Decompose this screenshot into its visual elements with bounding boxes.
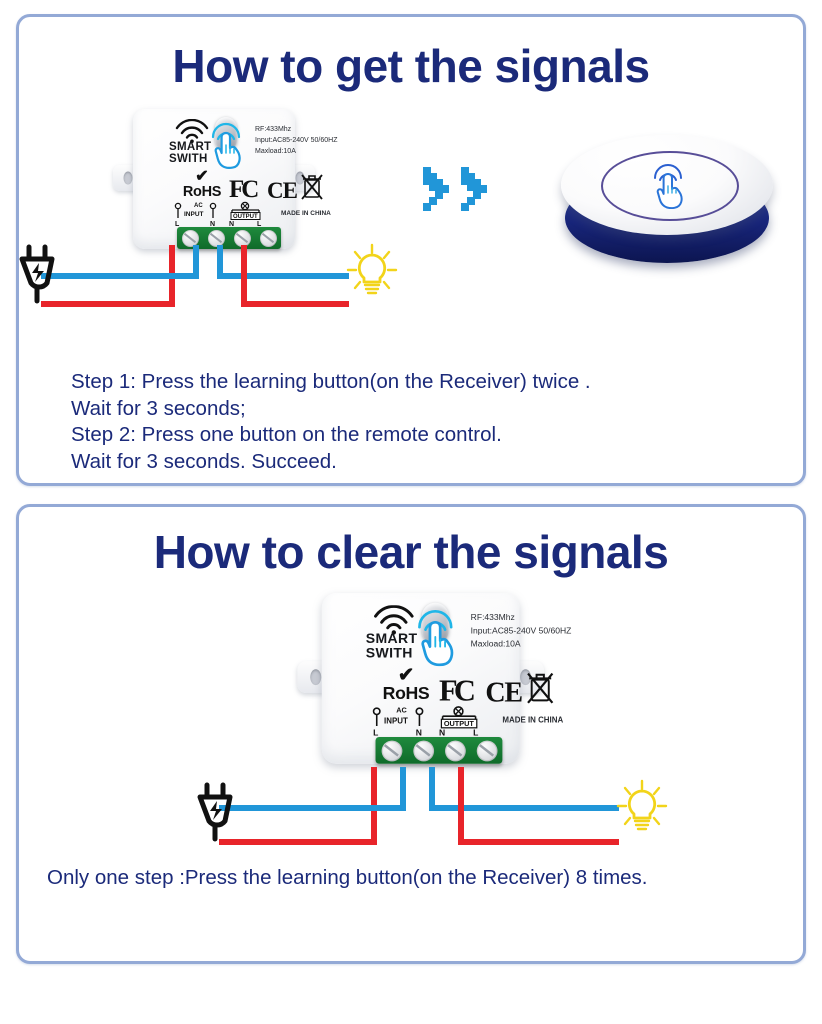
made-in-label: MADE IN CHINA — [502, 716, 563, 725]
svg-text:INPUT: INPUT — [184, 211, 204, 218]
svg-text:OUTPUT: OUTPUT — [233, 214, 258, 220]
light-bulb-icon — [345, 243, 399, 301]
step-line: Step 1: Press the learning button(on the… — [71, 369, 591, 396]
ce-mark: CE — [485, 678, 522, 706]
terminal-screw-1 — [381, 740, 402, 761]
panel-how-to-clear-signals: How to clear the signals SMART SWITH — [16, 504, 806, 964]
spec-load: Maxload:10A — [255, 147, 338, 158]
spec-load: Maxload:10A — [471, 639, 572, 652]
wifi-signal-icon — [175, 119, 209, 143]
remote-control — [559, 129, 775, 269]
rohs-mark: ✔ RoHS — [368, 669, 444, 704]
check-icon: ✔ — [368, 669, 444, 685]
receiver-module-clear: SMART SWITH ✔ RoHS FC CE — [295, 593, 546, 776]
terminal-legend: AC INPUT OUTPUT L N N L — [366, 705, 525, 737]
power-plug-icon — [11, 243, 67, 307]
wifi-signal-icon — [373, 605, 414, 634]
terminal-screw-3 — [234, 230, 251, 247]
terminal-screw-2 — [413, 740, 434, 761]
terminal-screw-4 — [260, 230, 277, 247]
made-in-label: MADE IN CHINA — [281, 210, 331, 217]
fcc-mark: FC — [439, 676, 472, 707]
wire-live-output-run — [241, 301, 349, 307]
touch-hand-icon[interactable] — [649, 163, 691, 209]
page-title-clear: How to clear the signals — [19, 507, 803, 575]
panel-how-to-get-signals: How to get the signals SMART S — [16, 14, 806, 486]
terminal-screw-2 — [208, 230, 225, 247]
check-icon: ✔ — [171, 171, 233, 184]
arrow-chevrons-icon — [419, 163, 501, 219]
brand-line-1: SMART — [366, 633, 418, 647]
terminal-legend: AC INPUT OUTPUT L N N L — [169, 201, 299, 227]
rohs-label: RoHS — [368, 684, 444, 704]
terminal-screw-3 — [444, 740, 465, 761]
svg-text:L: L — [373, 728, 378, 737]
remote-top-face — [561, 135, 773, 235]
wire-live-output-run — [458, 839, 619, 845]
spec-rf: RF:433Mhz — [255, 125, 338, 136]
wire-neutral-output-run — [217, 273, 349, 279]
svg-text:L: L — [473, 728, 478, 737]
spec-rf: RF:433Mhz — [471, 613, 572, 626]
step-line: Step 2: Press one button on the remote c… — [71, 422, 591, 449]
brand-line-2: SWITH — [366, 648, 418, 662]
receiver-specs: RF:433Mhz Input:AC85-240V 50/60HZ Maxloa… — [255, 125, 338, 158]
receiver-brand: SMART SWITH — [366, 633, 418, 662]
weee-bin-icon — [299, 172, 325, 202]
step-line: Only one step :Press the learning button… — [47, 865, 648, 892]
terminal-screw-1 — [182, 230, 199, 247]
step-line: Wait for 3 seconds; — [71, 396, 591, 423]
svg-text:INPUT: INPUT — [384, 717, 408, 726]
wire-neutral-input-run — [219, 805, 406, 811]
receiver-specs: RF:433Mhz Input:AC85-240V 50/60HZ Maxloa… — [471, 613, 572, 653]
power-plug-icon — [189, 781, 245, 845]
touch-hand-icon — [207, 121, 249, 169]
svg-text:OUTPUT: OUTPUT — [444, 719, 475, 728]
infographic-page: How to get the signals SMART S — [0, 0, 822, 1024]
terminal-screw-4 — [476, 740, 497, 761]
page-title-get: How to get the signals — [19, 17, 803, 89]
svg-text:N: N — [439, 728, 445, 737]
brand-line-2: SWITH — [169, 154, 211, 166]
steps-list-get: Step 1: Press the learning button(on the… — [71, 369, 591, 476]
step-line: Wait for 3 seconds. Succeed. — [71, 449, 591, 476]
weee-bin-icon — [524, 670, 556, 707]
brand-line-1: SMART — [169, 142, 211, 154]
fcc-mark: FC — [229, 177, 256, 202]
svg-text:N: N — [416, 728, 422, 737]
rohs-label: RoHS — [171, 184, 233, 200]
illustration-get: SMART SWITH ✔ RoHS FC CE — [19, 103, 803, 333]
spec-input: Input:AC85-240V 50/60HZ — [255, 136, 338, 147]
receiver-module-get: SMART SWITH ✔ RoHS FC CE — [111, 109, 317, 259]
light-bulb-icon — [615, 779, 669, 837]
receiver-brand: SMART SWITH — [169, 142, 211, 165]
receiver-body: SMART SWITH ✔ RoHS FC CE — [322, 593, 520, 764]
touch-hand-icon — [412, 608, 463, 667]
receiver-body: SMART SWITH ✔ RoHS FC CE — [133, 109, 295, 249]
ce-mark: CE — [267, 179, 297, 202]
steps-list-clear: Only one step :Press the learning button… — [47, 865, 648, 892]
spec-input: Input:AC85-240V 50/60HZ — [471, 626, 572, 639]
wire-live-output-drop — [458, 767, 464, 845]
illustration-clear: SMART SWITH ✔ RoHS FC CE — [19, 589, 803, 889]
terminal-block — [376, 737, 503, 764]
svg-text:AC: AC — [396, 706, 407, 715]
rohs-mark: ✔ RoHS — [171, 171, 233, 200]
svg-text:AC: AC — [194, 203, 203, 209]
wire-live-output-drop — [241, 245, 247, 307]
